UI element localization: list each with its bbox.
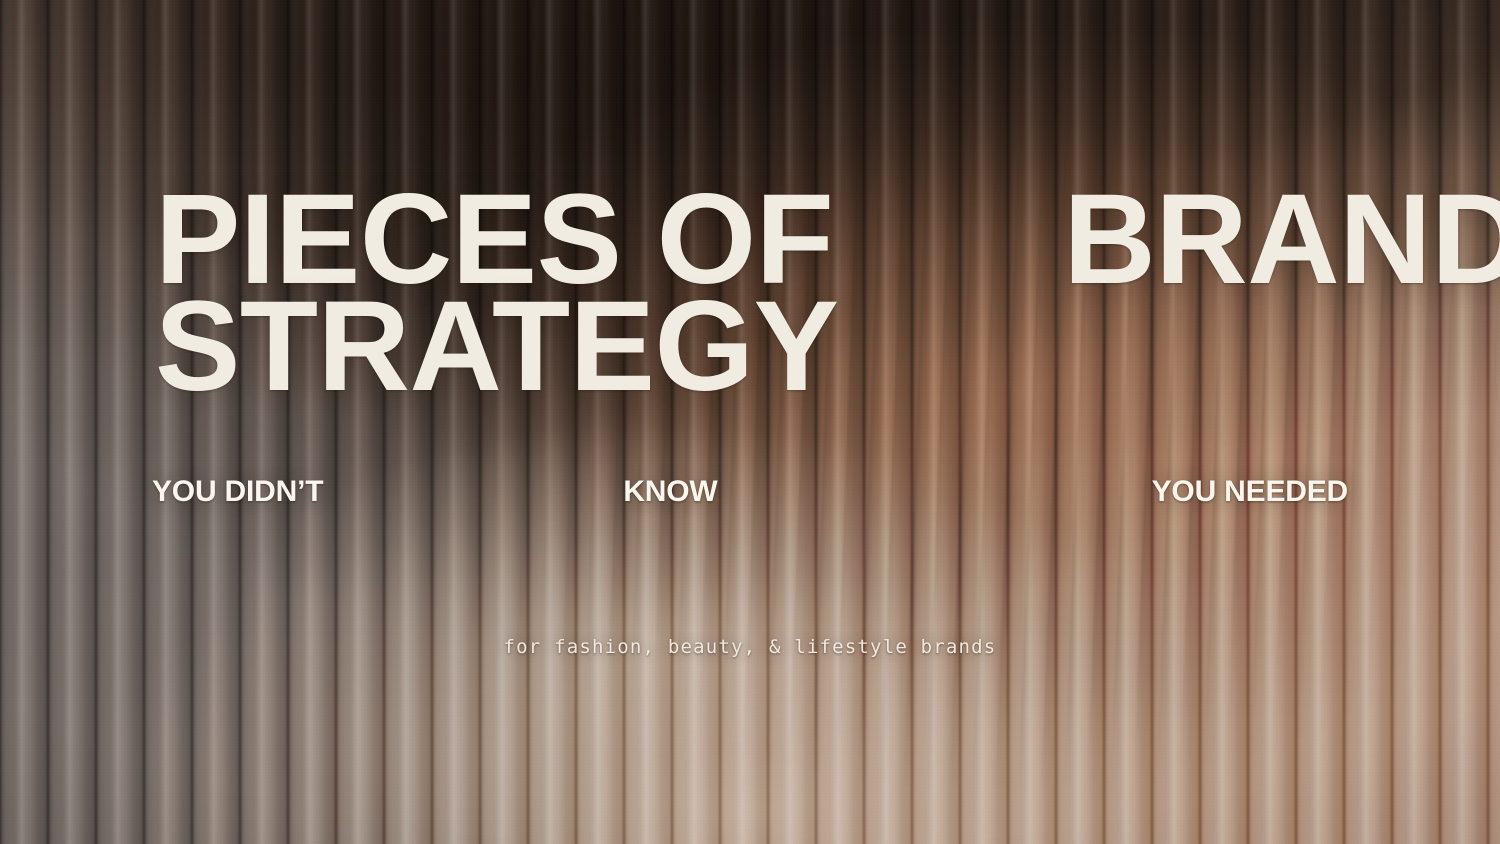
subheadline-middle: KNOW	[423, 475, 717, 509]
subheadline-left: YOU DIDN’T	[152, 475, 323, 509]
hero-slide: PIECES OFBRAND STRATEGY YOU DIDN’T KNOW …	[0, 0, 1500, 844]
subheadline: YOU DIDN’T KNOW YOU NEEDED	[152, 474, 1348, 510]
headline: PIECES OFBRAND STRATEGY	[155, 186, 1355, 400]
headline-tail: BRAND	[1063, 186, 1500, 293]
subheadline-right: YOU NEEDED	[1152, 475, 1348, 509]
tagline: for fashion, beauty, & lifestyle brands	[0, 636, 1500, 658]
slide-content: PIECES OFBRAND STRATEGY YOU DIDN’T KNOW …	[0, 0, 1500, 844]
